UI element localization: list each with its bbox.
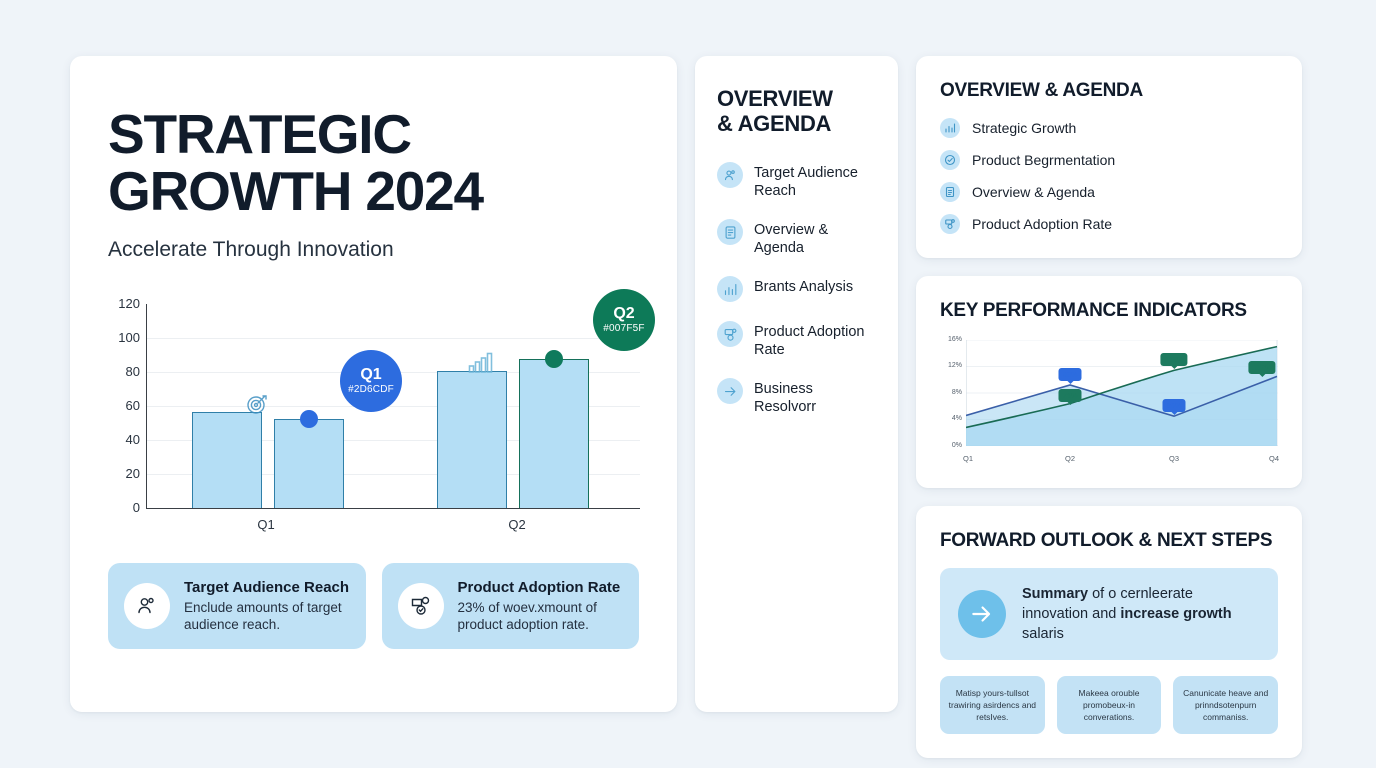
agenda-item-overview-agenda[interactable]: Overview & Agenda: [940, 182, 1278, 202]
feature-desc: 23% of woev.xmount of product adoption r…: [458, 599, 624, 633]
kpi-x-tick: Q2: [1065, 454, 1075, 463]
title-line-2: GROWTH 2024: [108, 163, 639, 220]
y-tick: 0: [108, 500, 140, 515]
agenda-item-product-adoption-rate[interactable]: Product Adoption Rate: [940, 214, 1278, 234]
page-title: STRATEGIC GROWTH 2024: [108, 106, 639, 220]
feature-card-row: Target Audience Reach Enclude amounts of…: [108, 563, 639, 649]
kpi-y-tick: 8%: [940, 389, 962, 396]
badge-q1-hex: #2D6CDF: [348, 383, 394, 396]
sidebar-item-label: Product Adoption Rate: [754, 321, 876, 359]
bar-chart-icon: [717, 276, 743, 302]
product-adoption-icon: [398, 583, 444, 629]
kpi-title: KEY PERFORMANCE INDICATORS: [940, 300, 1278, 322]
summary-bold-1: Summary: [1022, 586, 1088, 602]
data-point-q2[interactable]: [545, 350, 563, 368]
kpi-svg: [966, 340, 1278, 446]
sidebar-card: OVERVIEW & AGENDA Target Audience Reach: [695, 56, 898, 712]
summary-bold-2: increase growth: [1120, 606, 1231, 622]
gridline: [147, 338, 640, 339]
agenda-item-strategic-growth[interactable]: Strategic Growth: [940, 118, 1278, 138]
badge-q1-name: Q1: [360, 366, 381, 383]
x-tick-q1: Q1: [257, 517, 274, 532]
kpi-area-chart: 16% 12% 8% 4% 0%: [940, 336, 1278, 464]
kpi-label-green-q2: 76%: [1058, 389, 1081, 402]
sidebar-title-line-2: & AGENDA: [717, 111, 876, 136]
feature-desc: Enclude amounts of target audience reach…: [184, 599, 350, 633]
kpi-x-tick: Q1: [963, 454, 973, 463]
infographic-page: STRATEGIC GROWTH 2024 Accelerate Through…: [0, 0, 1376, 768]
sidebar-item-label: Target Audience Reach: [754, 162, 876, 200]
feature-title: Product Adoption Rate: [458, 579, 624, 596]
badge-q2-name: Q2: [613, 305, 634, 322]
data-point-q1[interactable]: [300, 410, 318, 428]
kpi-label-blue-q2: 93%: [1058, 368, 1081, 381]
summary-plain-2: salaris: [1022, 626, 1064, 642]
forward-outlook-title: FORWARD OUTLOOK & NEXT STEPS: [940, 530, 1278, 552]
bar-chart-plot-area: [146, 304, 640, 509]
next-step-chip[interactable]: Matisp yours-tullsot trawiring asirdencs…: [940, 676, 1045, 734]
next-step-chip[interactable]: Makeea orouble promobeux-in converations…: [1057, 676, 1162, 734]
summary-banner: Summary of o cernleerate innovation and …: [940, 568, 1278, 660]
kpi-plot-area: 93% 76% 168% 80% 132% Q1 Q2 Q3 Q4: [966, 340, 1278, 446]
badge-q1[interactable]: Q1 #2D6CDF: [340, 350, 402, 412]
next-step-chip[interactable]: Canunicate heave and prinndsotenpurn com…: [1173, 676, 1278, 734]
document-icon: [940, 182, 960, 202]
feature-card-target-audience-reach[interactable]: Target Audience Reach Enclude amounts of…: [108, 563, 366, 649]
sidebar-item-overview-agenda[interactable]: Overview & Agenda: [717, 219, 876, 257]
sidebar-item-brants-analysis[interactable]: Brants Analysis: [717, 276, 876, 302]
y-tick: 100: [108, 330, 140, 345]
arrow-right-icon: [717, 378, 743, 404]
arrow-right-icon: [958, 590, 1006, 638]
bar-chart-icon: [940, 118, 960, 138]
sidebar-title-line-1: OVERVIEW: [717, 86, 876, 111]
sidebar-item-label: Brants Analysis: [754, 276, 853, 296]
bar-q2-b[interactable]: [519, 359, 589, 508]
feature-title: Target Audience Reach: [184, 579, 350, 596]
overview-agenda-title: OVERVIEW & AGENDA: [940, 80, 1278, 102]
target-icon: [245, 392, 269, 421]
page-subtitle: Accelerate Through Innovation: [108, 238, 639, 262]
next-steps-chip-row: Matisp yours-tullsot trawiring asirdencs…: [940, 676, 1278, 734]
right-column: OVERVIEW & AGENDA Strategic Growth: [916, 56, 1302, 758]
y-tick: 80: [108, 364, 140, 379]
bar-q1-a[interactable]: [192, 412, 262, 508]
agenda-item-label: Strategic Growth: [972, 120, 1076, 136]
agenda-item-label: Product Begrmentation: [972, 152, 1115, 168]
agenda-item-product-begrmentation[interactable]: Product Begrmentation: [940, 150, 1278, 170]
sidebar-item-product-adoption-rate[interactable]: Product Adoption Rate: [717, 321, 876, 359]
users-icon: [124, 583, 170, 629]
product-adoption-icon: [717, 321, 743, 347]
kpi-card: KEY PERFORMANCE INDICATORS 16% 12% 8% 4%…: [916, 276, 1302, 488]
title-line-1: STRATEGIC: [108, 106, 639, 163]
sidebar-item-business-resolvorr[interactable]: Business Resolvorr: [717, 378, 876, 416]
y-tick: 40: [108, 432, 140, 447]
bar-q2-a[interactable]: [437, 371, 507, 508]
badge-q2-hex: #007F5F: [603, 322, 644, 335]
kpi-label-green-q4: 132%: [1248, 361, 1275, 374]
y-tick: 60: [108, 398, 140, 413]
agenda-item-label: Product Adoption Rate: [972, 216, 1112, 232]
kpi-x-tick: Q4: [1269, 454, 1279, 463]
kpi-y-tick: 0%: [940, 442, 962, 449]
y-tick: 120: [108, 296, 140, 311]
agenda-list: Strategic Growth Product Begrmentation: [940, 118, 1278, 234]
document-icon: [717, 219, 743, 245]
check-circle-icon: [940, 150, 960, 170]
overview-agenda-card: OVERVIEW & AGENDA Strategic Growth: [916, 56, 1302, 258]
summary-text: Summary of o cernleerate innovation and …: [1022, 584, 1260, 644]
kpi-label-green-q3: 168%: [1160, 353, 1187, 366]
kpi-x-tick: Q3: [1169, 454, 1179, 463]
bar-chart-icon: [468, 352, 494, 379]
agenda-item-label: Overview & Agenda: [972, 184, 1095, 200]
badge-q2[interactable]: Q2 #007F5F: [593, 289, 655, 351]
sidebar-item-target-audience-reach[interactable]: Target Audience Reach: [717, 162, 876, 200]
bar-q1-b[interactable]: [274, 419, 344, 508]
sidebar-item-label: Overview & Agenda: [754, 219, 876, 257]
product-adoption-icon: [940, 214, 960, 234]
sidebar-item-label: Business Resolvorr: [754, 378, 876, 416]
kpi-y-tick: 12%: [940, 362, 962, 369]
kpi-y-tick: 16%: [940, 336, 962, 343]
hero-card: STRATEGIC GROWTH 2024 Accelerate Through…: [70, 56, 677, 712]
kpi-label-blue-q3: 80%: [1162, 399, 1185, 412]
feature-card-product-adoption-rate[interactable]: Product Adoption Rate 23% of woev.xmount…: [382, 563, 640, 649]
x-tick-q2: Q2: [508, 517, 525, 532]
y-tick: 20: [108, 466, 140, 481]
sidebar-title: OVERVIEW & AGENDA: [717, 86, 876, 136]
strategic-growth-bar-chart: 120 100 80 60 40 20 0: [108, 294, 640, 539]
forward-outlook-card: FORWARD OUTLOOK & NEXT STEPS Summary of …: [916, 506, 1302, 758]
sidebar-list: Target Audience Reach Overview & Agenda …: [717, 162, 876, 416]
kpi-y-tick: 4%: [940, 415, 962, 422]
users-icon: [717, 162, 743, 188]
